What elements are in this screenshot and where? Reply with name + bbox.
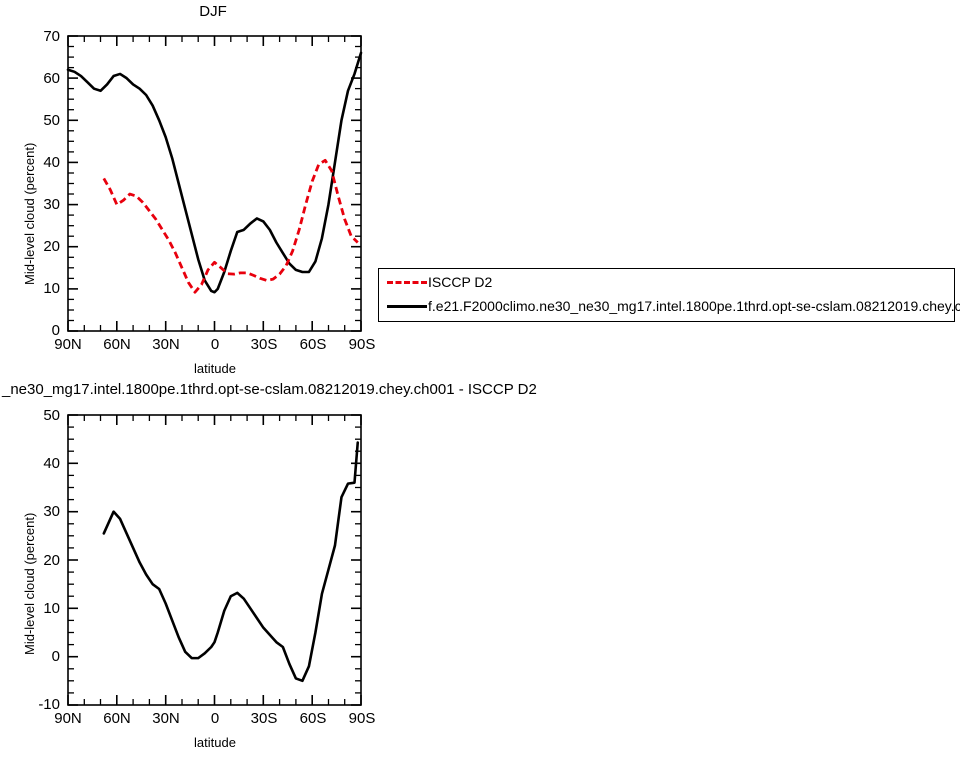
top-chart-plot [0, 0, 380, 400]
bottom-chart-plot [0, 400, 380, 760]
legend-dashed-line-icon [387, 281, 427, 284]
legend-label-model: f.e21.F2000climo.ne30_ne30_mg17.intel.18… [428, 299, 960, 313]
legend-entry-model: f.e21.F2000climo.ne30_ne30_mg17.intel.18… [387, 299, 960, 313]
series-line-difference [104, 443, 358, 681]
bottom-chart-panel: Mid-level cloud (percent) latitude 50 40… [0, 400, 380, 760]
top-chart-panel: DJF Mid-level cloud (percent) latitude 7… [0, 0, 380, 400]
legend-entry-isccp: ISCCP D2 [387, 275, 492, 289]
series-line-model [68, 53, 361, 292]
legend-solid-line-icon [387, 305, 427, 308]
difference-caption: _ne30_mg17.intel.1800pe.1thrd.opt-se-csl… [2, 381, 537, 398]
series-line-isccp [104, 160, 358, 292]
legend-label-isccp: ISCCP D2 [428, 275, 492, 289]
legend: ISCCP D2 f.e21.F2000climo.ne30_ne30_mg17… [378, 268, 955, 322]
